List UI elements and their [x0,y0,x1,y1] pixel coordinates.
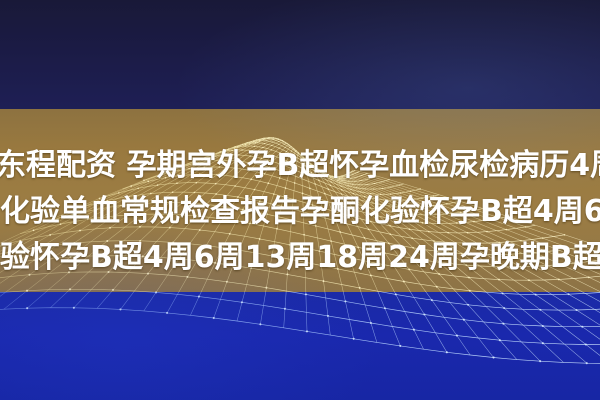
headline-line-3: 验怀孕B超4周6周13周18周24周孕晚期B超图片 [0,235,600,281]
promotional-banner: 东程配资 孕期宫外孕B超怀孕血检尿检病历4周6周 化验单血常规检查报告孕酮化验怀… [0,0,600,400]
headline-line-1: 东程配资 孕期宫外孕B超怀孕血检尿检病历4周6周 [0,143,600,189]
headline-line-2: 化验单血常规检查报告孕酮化验怀孕B超4周6周13周 [0,189,600,235]
headline-text: 东程配资 孕期宫外孕B超怀孕血检尿检病历4周6周 化验单血常规检查报告孕酮化验怀… [0,143,600,281]
